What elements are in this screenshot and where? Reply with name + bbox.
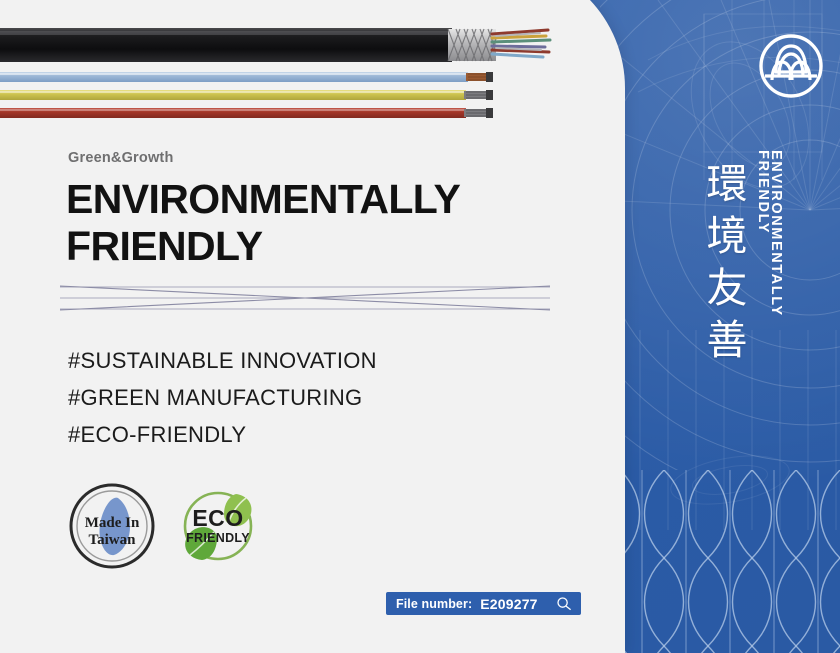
- hashtag-item-2: #GREEN MANUFACTURING: [68, 379, 377, 416]
- white-content-card: Green&Growth ENVIRONMENTALLY FRIENDLY: [0, 0, 625, 653]
- chinese-char-3: 友: [700, 262, 756, 314]
- eco-badge-line-2: FRIENDLY: [186, 531, 250, 545]
- eyebrow-label: Green&Growth: [68, 150, 174, 166]
- english-vertical-text: ENVIRONMENTALLY FRIENDLY: [756, 150, 782, 360]
- eco-friendly-badge: ECO FRIENDLY: [176, 484, 260, 568]
- file-number-value: E209277: [480, 596, 537, 612]
- file-number-bar[interactable]: File number: E209277: [386, 592, 581, 615]
- cable-product-illustration: [0, 0, 560, 130]
- page-title: ENVIRONMENTALLY FRIENDLY: [66, 176, 586, 270]
- eco-badge-line-1: ECO: [192, 505, 243, 531]
- headline-line-1: ENVIRONMENTALLY: [66, 176, 586, 223]
- made-in-taiwan-line-1: Made In: [85, 515, 140, 531]
- crossing-lines-divider: [60, 276, 550, 318]
- poster-canvas: 環 境 友 善 ENVIRONMENTALLY FRIENDLY: [0, 0, 840, 653]
- company-emblem-icon: [757, 32, 825, 100]
- wave-lattice-decoration: [620, 470, 840, 653]
- magnifier-icon[interactable]: [556, 596, 572, 612]
- chinese-vertical-text: 環 境 友 善: [700, 158, 756, 366]
- chinese-char-4: 善: [700, 314, 756, 366]
- chinese-char-2: 境: [700, 210, 756, 262]
- chinese-char-1: 環: [700, 158, 756, 210]
- file-number-label: File number:: [396, 597, 472, 611]
- hashtag-item-3: #ECO-FRIENDLY: [68, 416, 377, 453]
- made-in-taiwan-line-2: Taiwan: [89, 532, 137, 548]
- hashtag-list: #SUSTAINABLE INNOVATION #GREEN MANUFACTU…: [68, 342, 377, 453]
- headline-line-2: FRIENDLY: [66, 223, 586, 270]
- made-in-taiwan-badge: Made In Taiwan: [66, 482, 158, 570]
- hashtag-item-1: #SUSTAINABLE INNOVATION: [68, 342, 377, 379]
- certification-badges: Made In Taiwan ECO FRIENDLY: [66, 482, 276, 572]
